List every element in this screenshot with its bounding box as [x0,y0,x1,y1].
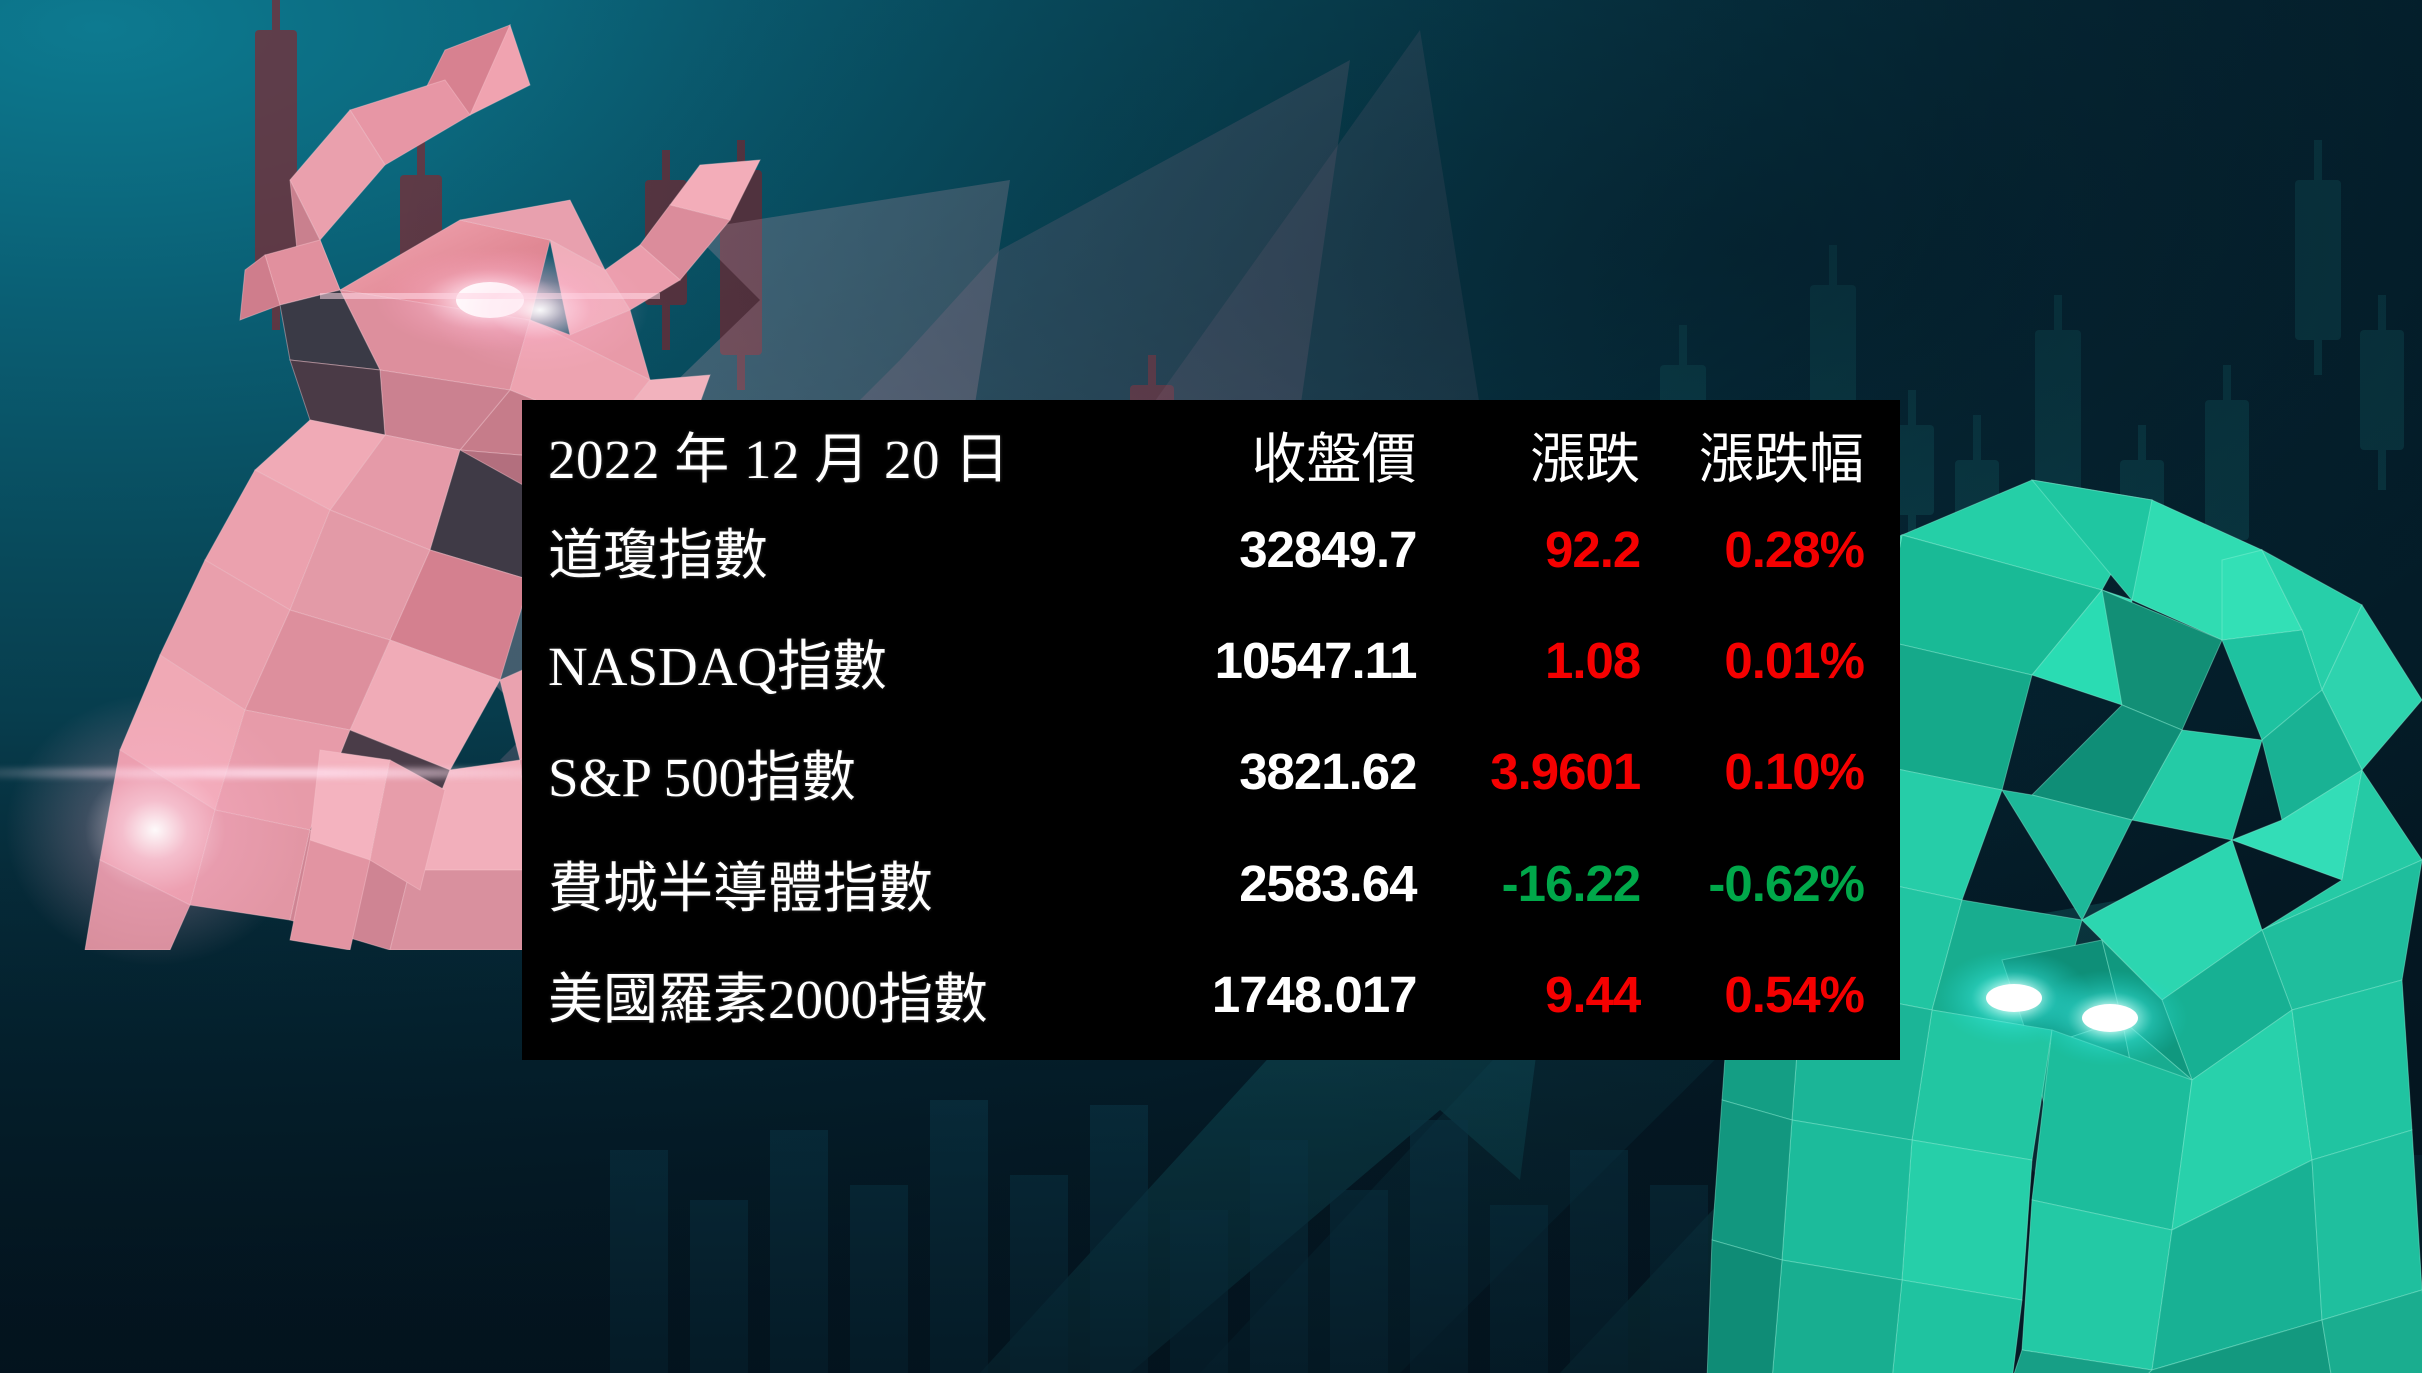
table-row: 費城半導體指數 2583.64 -16.22 -0.62% [548,828,1864,939]
close-value: 3821.62 [1088,716,1417,827]
header-change-pct: 漲跌幅 [1640,414,1864,494]
header-change: 漲跌 [1417,414,1641,494]
change-pct-value: 0.28% [1640,494,1864,605]
market-quote-table: 2022 年 12 月 20 日 收盤價 漲跌 漲跌幅 道瓊指數 32849.7… [548,414,1864,1050]
header-close: 收盤價 [1088,414,1417,494]
change-value: 92.2 [1417,494,1641,605]
index-name: NASDAQ指數 [548,605,1088,716]
change-value: 1.08 [1417,605,1641,716]
table-row: 道瓊指數 32849.7 92.2 0.28% [548,494,1864,605]
market-quote-panel: 2022 年 12 月 20 日 收盤價 漲跌 漲跌幅 道瓊指數 32849.7… [522,400,1900,1060]
change-value: 9.44 [1417,939,1641,1050]
table-row: 美國羅素2000指數 1748.017 9.44 0.54% [548,939,1864,1050]
close-value: 32849.7 [1088,494,1417,605]
close-value: 2583.64 [1088,828,1417,939]
table-body: 道瓊指數 32849.7 92.2 0.28% NASDAQ指數 10547.1… [548,494,1864,1050]
change-value: 3.9601 [1417,716,1641,827]
market-summary-graphic: 2022 年 12 月 20 日 收盤價 漲跌 漲跌幅 道瓊指數 32849.7… [0,0,2422,1373]
close-value: 1748.017 [1088,939,1417,1050]
change-pct-value: -0.62% [1640,828,1864,939]
index-name: 美國羅素2000指數 [548,939,1088,1050]
table-header-row: 2022 年 12 月 20 日 收盤價 漲跌 漲跌幅 [548,414,1864,494]
header-date: 2022 年 12 月 20 日 [548,414,1088,494]
table-row: NASDAQ指數 10547.11 1.08 0.01% [548,605,1864,716]
index-name: 費城半導體指數 [548,828,1088,939]
change-pct-value: 0.54% [1640,939,1864,1050]
table-row: S&P 500指數 3821.62 3.9601 0.10% [548,716,1864,827]
close-value: 10547.11 [1088,605,1417,716]
change-pct-value: 0.01% [1640,605,1864,716]
change-pct-value: 0.10% [1640,716,1864,827]
index-name: S&P 500指數 [548,716,1088,827]
index-name: 道瓊指數 [548,494,1088,605]
change-value: -16.22 [1417,828,1641,939]
